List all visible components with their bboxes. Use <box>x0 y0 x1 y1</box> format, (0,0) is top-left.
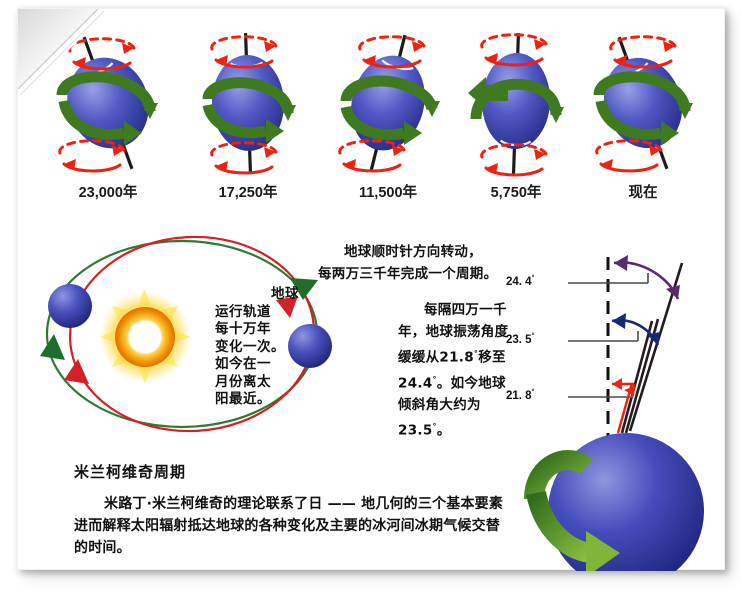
orbit-caption-line-4: 如今在一 <box>215 356 299 374</box>
degree-symbol: ° <box>532 389 535 396</box>
orbit-caption-line-2: 每十万年 <box>215 321 299 339</box>
precession-label-2: 11,500年 <box>318 181 458 202</box>
obliquity-arrow-244 <box>614 255 680 299</box>
precession-cell-2: 11,500年 <box>318 23 458 213</box>
precession-label-0: 23,000年 <box>38 181 178 202</box>
tilt-label-244: 24. 4° <box>506 275 534 288</box>
spin-note-line-0: 地球顺时针方向转动， <box>344 244 482 260</box>
orbit-diagram <box>32 234 352 439</box>
tilt-label-235: 23. 5° <box>506 333 534 346</box>
precession-label-1: 17,250年 <box>178 181 318 202</box>
precession-globe-3 <box>446 23 586 183</box>
precession-globe-2 <box>318 23 458 183</box>
screenshot-root: 23,000年 <box>0 0 741 591</box>
paper-sheet: 23,000年 <box>17 8 725 570</box>
precession-cell-3: 5,750年 <box>446 23 586 213</box>
obliquity-note: 每隔四万一千年，地球振荡角度缓缓从21.8°移至24.4°。如今地球倾斜角大约为… <box>398 299 516 442</box>
tilt-label-218-value: 21. 8 <box>506 390 532 402</box>
precession-globe-0 <box>38 23 178 183</box>
obliquity-arrow-218 <box>612 378 635 398</box>
tilt-label-218: 21. 8° <box>506 389 534 402</box>
globe-sphere <box>480 52 551 150</box>
orbit-arrow-green-left <box>40 334 65 360</box>
earth-icon-left <box>48 284 92 328</box>
precession-globe-1 <box>178 23 318 183</box>
precession-label-4: 现在 <box>573 181 713 202</box>
sun-icon <box>99 289 191 384</box>
degree-symbol: ° <box>532 275 535 282</box>
tilt-label-244-value: 24. 4 <box>506 276 532 288</box>
precession-row: 23,000年 <box>18 23 726 213</box>
spin-direction-note: 地球顺时针方向转动， 每两万三千年完成一个周期。 <box>318 241 536 285</box>
degree-symbol: ° <box>532 333 535 340</box>
obliquity-diagram: 24. 4° 23. 5° 21. 8° <box>508 241 726 571</box>
precession-cell-0: 23,000年 <box>38 23 178 213</box>
footer-paragraph-text: 米路丁·米兰柯维奇的理论联系了日 —— 地几何的三个基本要素进而解释太阳辐射抵达… <box>74 496 503 556</box>
orbit-caption-line-5: 月份离太 <box>215 374 299 392</box>
orbit-caption-line-6: 阳最近。 <box>215 391 299 409</box>
precession-label-3: 5,750年 <box>446 181 586 202</box>
tilt-label-235-value: 23. 5 <box>506 334 532 346</box>
obliquity-note-seg-6: 。 <box>437 423 451 439</box>
precession-cell-4: 现在 <box>573 23 713 213</box>
precession-cell-1: 17,250年 <box>178 23 318 213</box>
orbit-arrow-red-left <box>64 359 89 384</box>
orbit-caption-line-0: 地球 <box>215 286 299 304</box>
precession-globe-4 <box>573 23 713 183</box>
orbit-caption: 地球 运行轨道 每十万年 变化一次。 如今在一 月份离太 阳最近。 <box>215 286 299 409</box>
orbit-caption-line-1: 运行轨道 <box>215 304 299 322</box>
orbit-caption-line-3: 变化一次。 <box>215 339 299 357</box>
spin-note-line-1: 每两万三千年完成一个周期。 <box>318 266 497 282</box>
footer-title: 米兰柯维奇周期 <box>74 461 186 482</box>
footer-paragraph: 米路丁·米兰柯维奇的理论联系了日 —— 地几何的三个基本要素进而解释太阳辐射抵达… <box>74 493 510 559</box>
